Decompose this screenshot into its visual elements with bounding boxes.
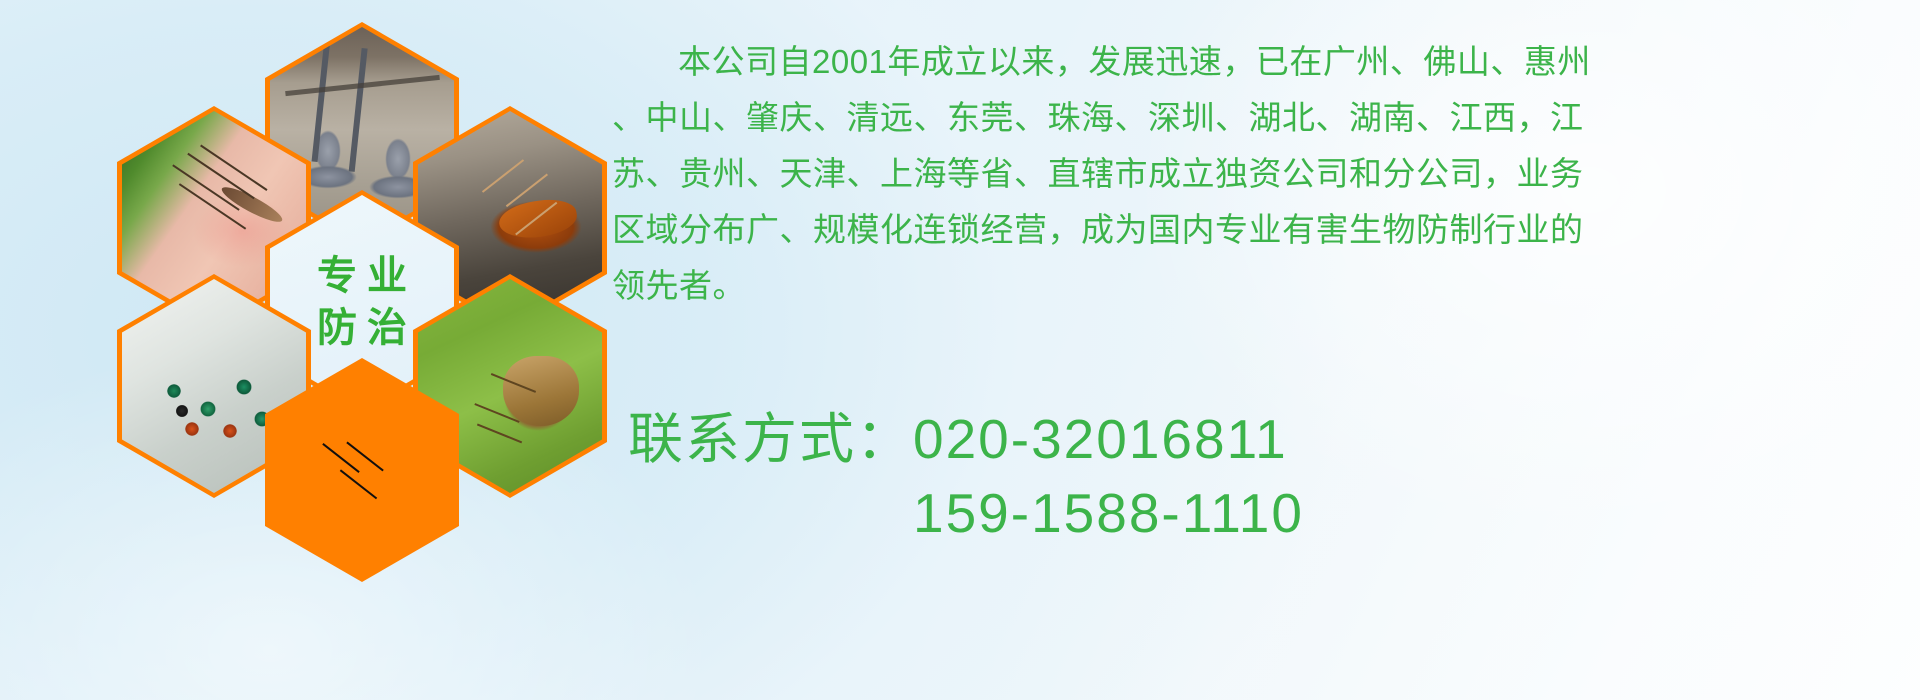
pest-control-banner: 专业 防治 本公司自2001年成立以来，发展迅速，已在广州、佛山、惠州 、中山、… [0, 0, 1920, 700]
contact-primary-phone[interactable]: 联系方式：020-32016811 [628, 402, 1828, 476]
contact-secondary-phone[interactable]: 159-1588-1110 [628, 476, 1828, 550]
slogan-line-2: 防治 [307, 307, 417, 349]
paragraph-line-5: 领先者。 [612, 258, 1892, 314]
paragraph-line-1: 本公司自2001年成立以来，发展迅速，已在广州、佛山、惠州 [612, 34, 1892, 90]
paragraph-line-2: 、中山、肇庆、清远、东莞、珠海、深圳、湖北、湖南、江西，江 [612, 90, 1892, 146]
paragraph-line-3: 苏、贵州、天津、上海等省、直辖市成立独资公司和分公司，业务 [612, 146, 1892, 202]
hexagon-photo-cluster: 专业 防治 [95, 8, 595, 553]
company-description-paragraph: 本公司自2001年成立以来，发展迅速，已在广州、佛山、惠州 、中山、肇庆、清远、… [612, 34, 1892, 314]
contact-block: 联系方式：020-32016811 159-1588-1110 [628, 402, 1828, 550]
slogan-line-1: 专业 [307, 255, 417, 297]
company-description: 本公司自2001年成立以来，发展迅速，已在广州、佛山、惠州 、中山、肇庆、清远、… [612, 34, 1892, 314]
paragraph-line-4: 区域分布广、规模化连锁经营，成为国内专业有害生物防制行业的 [612, 202, 1892, 258]
